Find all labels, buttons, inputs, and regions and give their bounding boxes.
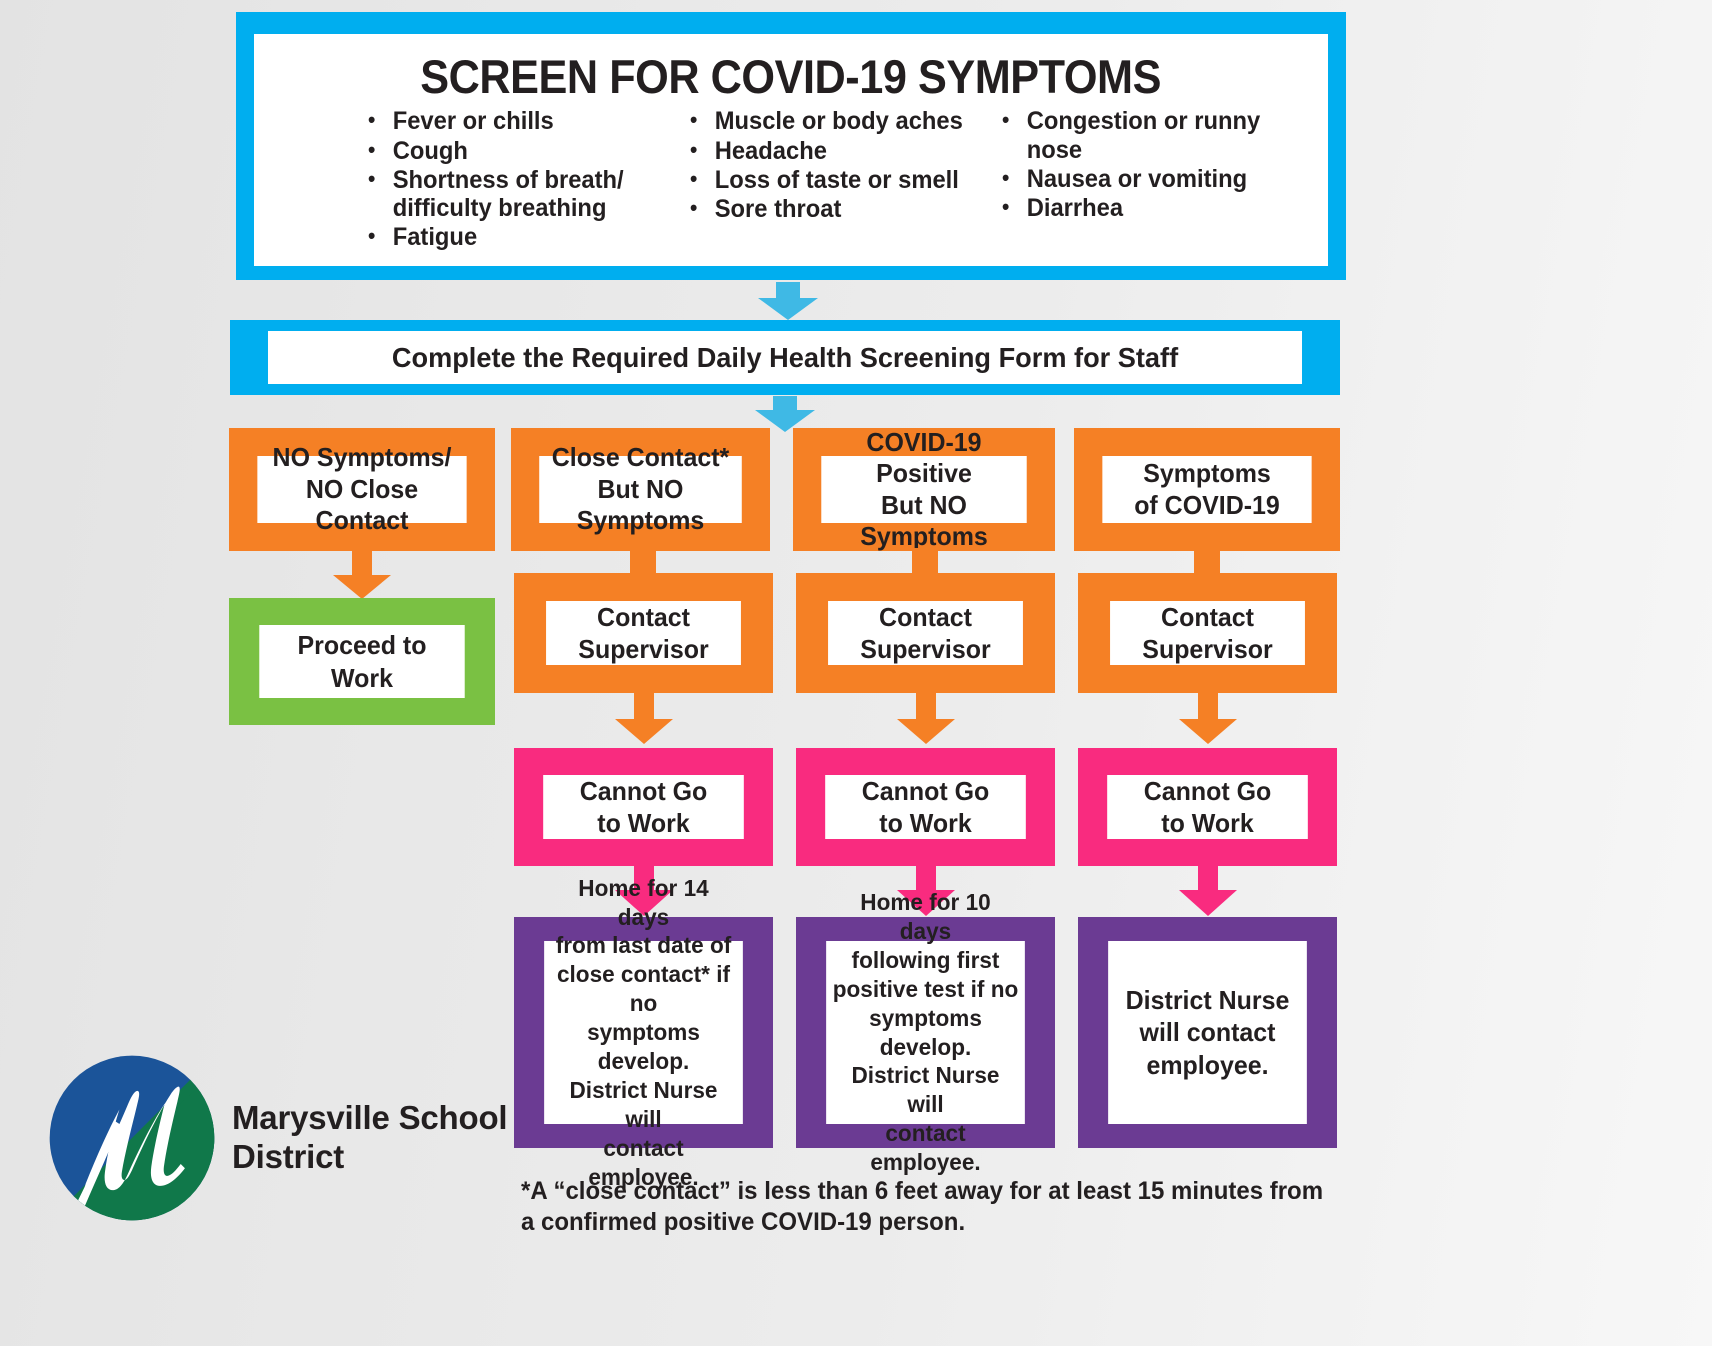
supervisor-line: Contact (879, 601, 972, 633)
contact-supervisor-symptoms: Contact Supervisor (1078, 573, 1337, 693)
category-line: Symptoms (1143, 458, 1271, 489)
category-line: NO Symptoms/ (273, 442, 452, 473)
cannot-line: to Work (1161, 807, 1253, 840)
symptom-label: Diarrhea (1027, 194, 1299, 222)
outcome-text: Home for 14 days from last date of close… (544, 941, 743, 1124)
district-name-line: District (232, 1138, 507, 1177)
symptom-item: • Muscle or body aches (690, 107, 986, 135)
bullet-icon: • (1002, 107, 1027, 134)
page-title: SCREEN FOR COVID-19 SYMPTOMS (421, 52, 1162, 101)
contact-supervisor-covid-positive: Contact Supervisor (796, 573, 1055, 693)
outcome-line: positive test if no (833, 975, 1019, 1004)
symptom-label: Cough (393, 137, 674, 165)
outcome-line: symptoms develop. (550, 1018, 737, 1076)
outcome-covid-positive: Home for 10 days following first positiv… (796, 917, 1055, 1148)
cannot-line: to Work (879, 807, 971, 840)
bullet-icon: • (690, 166, 715, 193)
supervisor-line: Supervisor (1142, 633, 1272, 665)
branch-category-symptoms: Symptoms of COVID-19 (1074, 428, 1340, 551)
outcome-line: contact employee. (832, 1119, 1019, 1177)
symptom-label: Shortness of breath/ difficulty breathin… (393, 166, 674, 223)
symptom-label: Sore throat (715, 195, 987, 223)
branch-category-close-contact: Close Contact* But NO Symptoms (511, 428, 770, 551)
proceed-line: Work (331, 662, 393, 695)
symptom-label: Fever or chills (393, 107, 674, 135)
daily-health-form-box: Complete the Required Daily Health Scree… (230, 320, 1340, 395)
footnote-line: *A “close contact” is less than 6 feet a… (521, 1176, 1347, 1207)
cannot-text: Cannot Go to Work (825, 775, 1026, 839)
symptom-item: • Shortness of breath/ difficulty breath… (368, 166, 674, 223)
outcome-symptoms: District Nurse will contact employee. (1078, 917, 1337, 1148)
category-line: of COVID-19 (1134, 490, 1280, 521)
symptom-item: • Diarrhea (1002, 194, 1298, 222)
cannot-line: to Work (597, 807, 689, 840)
symptom-item: • Fatigue (368, 223, 674, 251)
supervisor-line: Supervisor (860, 633, 990, 665)
marysville-logo-icon (48, 1054, 216, 1222)
category-text: NO Symptoms/ NO Close Contact (257, 456, 466, 523)
supervisor-text: Contact Supervisor (546, 601, 741, 665)
supervisor-text: Contact Supervisor (1110, 601, 1305, 665)
category-line: COVID-19 Positive (821, 427, 1026, 490)
symptom-item: • Loss of taste or smell (690, 166, 986, 194)
outcome-text: Home for 10 days following first positiv… (826, 941, 1025, 1124)
outcome-line: District Nurse (1126, 984, 1290, 1017)
symptom-column-3: • Congestion or runny nose • Nausea or v… (1002, 107, 1314, 252)
arrow-cannot-to-outcome-3 (1179, 864, 1237, 917)
category-line: NO Close Contact (257, 474, 466, 537)
category-text: Symptoms of COVID-19 (1102, 456, 1311, 523)
cannot-line: Cannot Go (862, 775, 990, 808)
symptom-item: • Sore throat (690, 195, 986, 223)
bullet-icon: • (1002, 165, 1027, 192)
bullet-icon: • (368, 107, 393, 134)
bullet-icon: • (690, 195, 715, 222)
cannot-line: Cannot Go (1144, 775, 1272, 808)
daily-form-label: Complete the Required Daily Health Scree… (268, 331, 1302, 384)
outcome-line: following first (852, 946, 1000, 975)
cannot-text: Cannot Go to Work (1107, 775, 1308, 839)
category-line: But NO Symptoms (539, 474, 742, 537)
outcome-line: District Nurse will (832, 1061, 1019, 1119)
supervisor-text: Contact Supervisor (828, 601, 1023, 665)
category-line: Close Contact* (552, 442, 730, 473)
footnote-line: a confirmed positive COVID-19 person. (521, 1207, 1347, 1238)
proceed-to-work-box: Proceed to Work (229, 598, 495, 725)
outcome-text: District Nurse will contact employee. (1108, 941, 1307, 1124)
outcome-line: employee. (1146, 1049, 1268, 1082)
cannot-text: Cannot Go to Work (543, 775, 744, 839)
symptom-panel-inner: SCREEN FOR COVID-19 SYMPTOMS • Fever or … (254, 34, 1328, 266)
arrow-no-symptoms-to-proceed (333, 551, 391, 599)
symptom-label: Muscle or body aches (715, 107, 987, 135)
arrow-supervisor-to-cannot-3 (1179, 693, 1237, 745)
arrow-panel-to-form (758, 282, 818, 320)
symptom-columns: • Fever or chills • Cough • Shortness of… (268, 107, 1314, 252)
outcome-line: close contact* if no (550, 960, 737, 1018)
outcome-line: from last date of (556, 931, 732, 960)
outcome-close-contact: Home for 14 days from last date of close… (514, 917, 773, 1148)
supervisor-line: Contact (1161, 601, 1254, 633)
symptom-label: Loss of taste or smell (715, 166, 987, 194)
symptom-item: • Fever or chills (368, 107, 674, 135)
symptom-label: Headache (715, 137, 987, 165)
outcome-line: District Nurse will (550, 1076, 737, 1134)
symptom-screening-panel: SCREEN FOR COVID-19 SYMPTOMS • Fever or … (236, 12, 1346, 280)
bullet-icon: • (368, 223, 393, 250)
symptom-item: • Headache (690, 137, 986, 165)
cannot-go-to-work-covid-positive: Cannot Go to Work (796, 748, 1055, 866)
branch-category-no-symptoms: NO Symptoms/ NO Close Contact (229, 428, 495, 551)
flowchart-canvas: SCREEN FOR COVID-19 SYMPTOMS • Fever or … (0, 0, 1712, 1346)
cannot-line: Cannot Go (580, 775, 708, 808)
symptom-label: Congestion or runny nose (1027, 107, 1299, 164)
symptom-item: • Nausea or vomiting (1002, 165, 1298, 193)
symptom-item: • Congestion or runny nose (1002, 107, 1298, 164)
outcome-line: symptoms develop. (832, 1004, 1019, 1062)
close-contact-footnote: *A “close contact” is less than 6 feet a… (521, 1176, 1347, 1237)
bullet-icon: • (368, 137, 393, 164)
arrow-supervisor-to-cannot-1 (615, 693, 673, 745)
bullet-icon: • (1002, 194, 1027, 221)
bullet-icon: • (690, 107, 715, 134)
proceed-text: Proceed to Work (259, 625, 464, 698)
outcome-line: Home for 10 days (832, 888, 1019, 946)
category-text: COVID-19 Positive But NO Symptoms (821, 456, 1026, 523)
branch-category-covid-positive: COVID-19 Positive But NO Symptoms (793, 428, 1055, 551)
category-line: But NO Symptoms (821, 490, 1026, 553)
arrow-supervisor-to-cannot-2 (897, 693, 955, 745)
symptom-column-1: • Fever or chills • Cough • Shortness of… (368, 107, 690, 252)
district-logo: Marysville School District (48, 1054, 507, 1222)
arrow-form-to-branches (755, 396, 815, 432)
outcome-line: Home for 14 days (550, 874, 737, 932)
district-name: Marysville School District (232, 1099, 507, 1177)
symptom-label: Nausea or vomiting (1027, 165, 1299, 193)
bullet-icon: • (690, 137, 715, 164)
supervisor-line: Contact (597, 601, 690, 633)
contact-supervisor-close-contact: Contact Supervisor (514, 573, 773, 693)
category-text: Close Contact* But NO Symptoms (539, 456, 742, 523)
cannot-go-to-work-close-contact: Cannot Go to Work (514, 748, 773, 866)
bullet-icon: • (368, 166, 393, 193)
symptom-item: • Cough (368, 137, 674, 165)
proceed-line: Proceed to (298, 629, 427, 662)
symptom-column-2: • Muscle or body aches • Headache • Loss… (690, 107, 1002, 252)
cannot-go-to-work-symptoms: Cannot Go to Work (1078, 748, 1337, 866)
outcome-line: will contact (1140, 1016, 1276, 1049)
symptom-label: Fatigue (393, 223, 674, 251)
supervisor-line: Supervisor (578, 633, 708, 665)
district-name-line: Marysville School (232, 1099, 507, 1138)
